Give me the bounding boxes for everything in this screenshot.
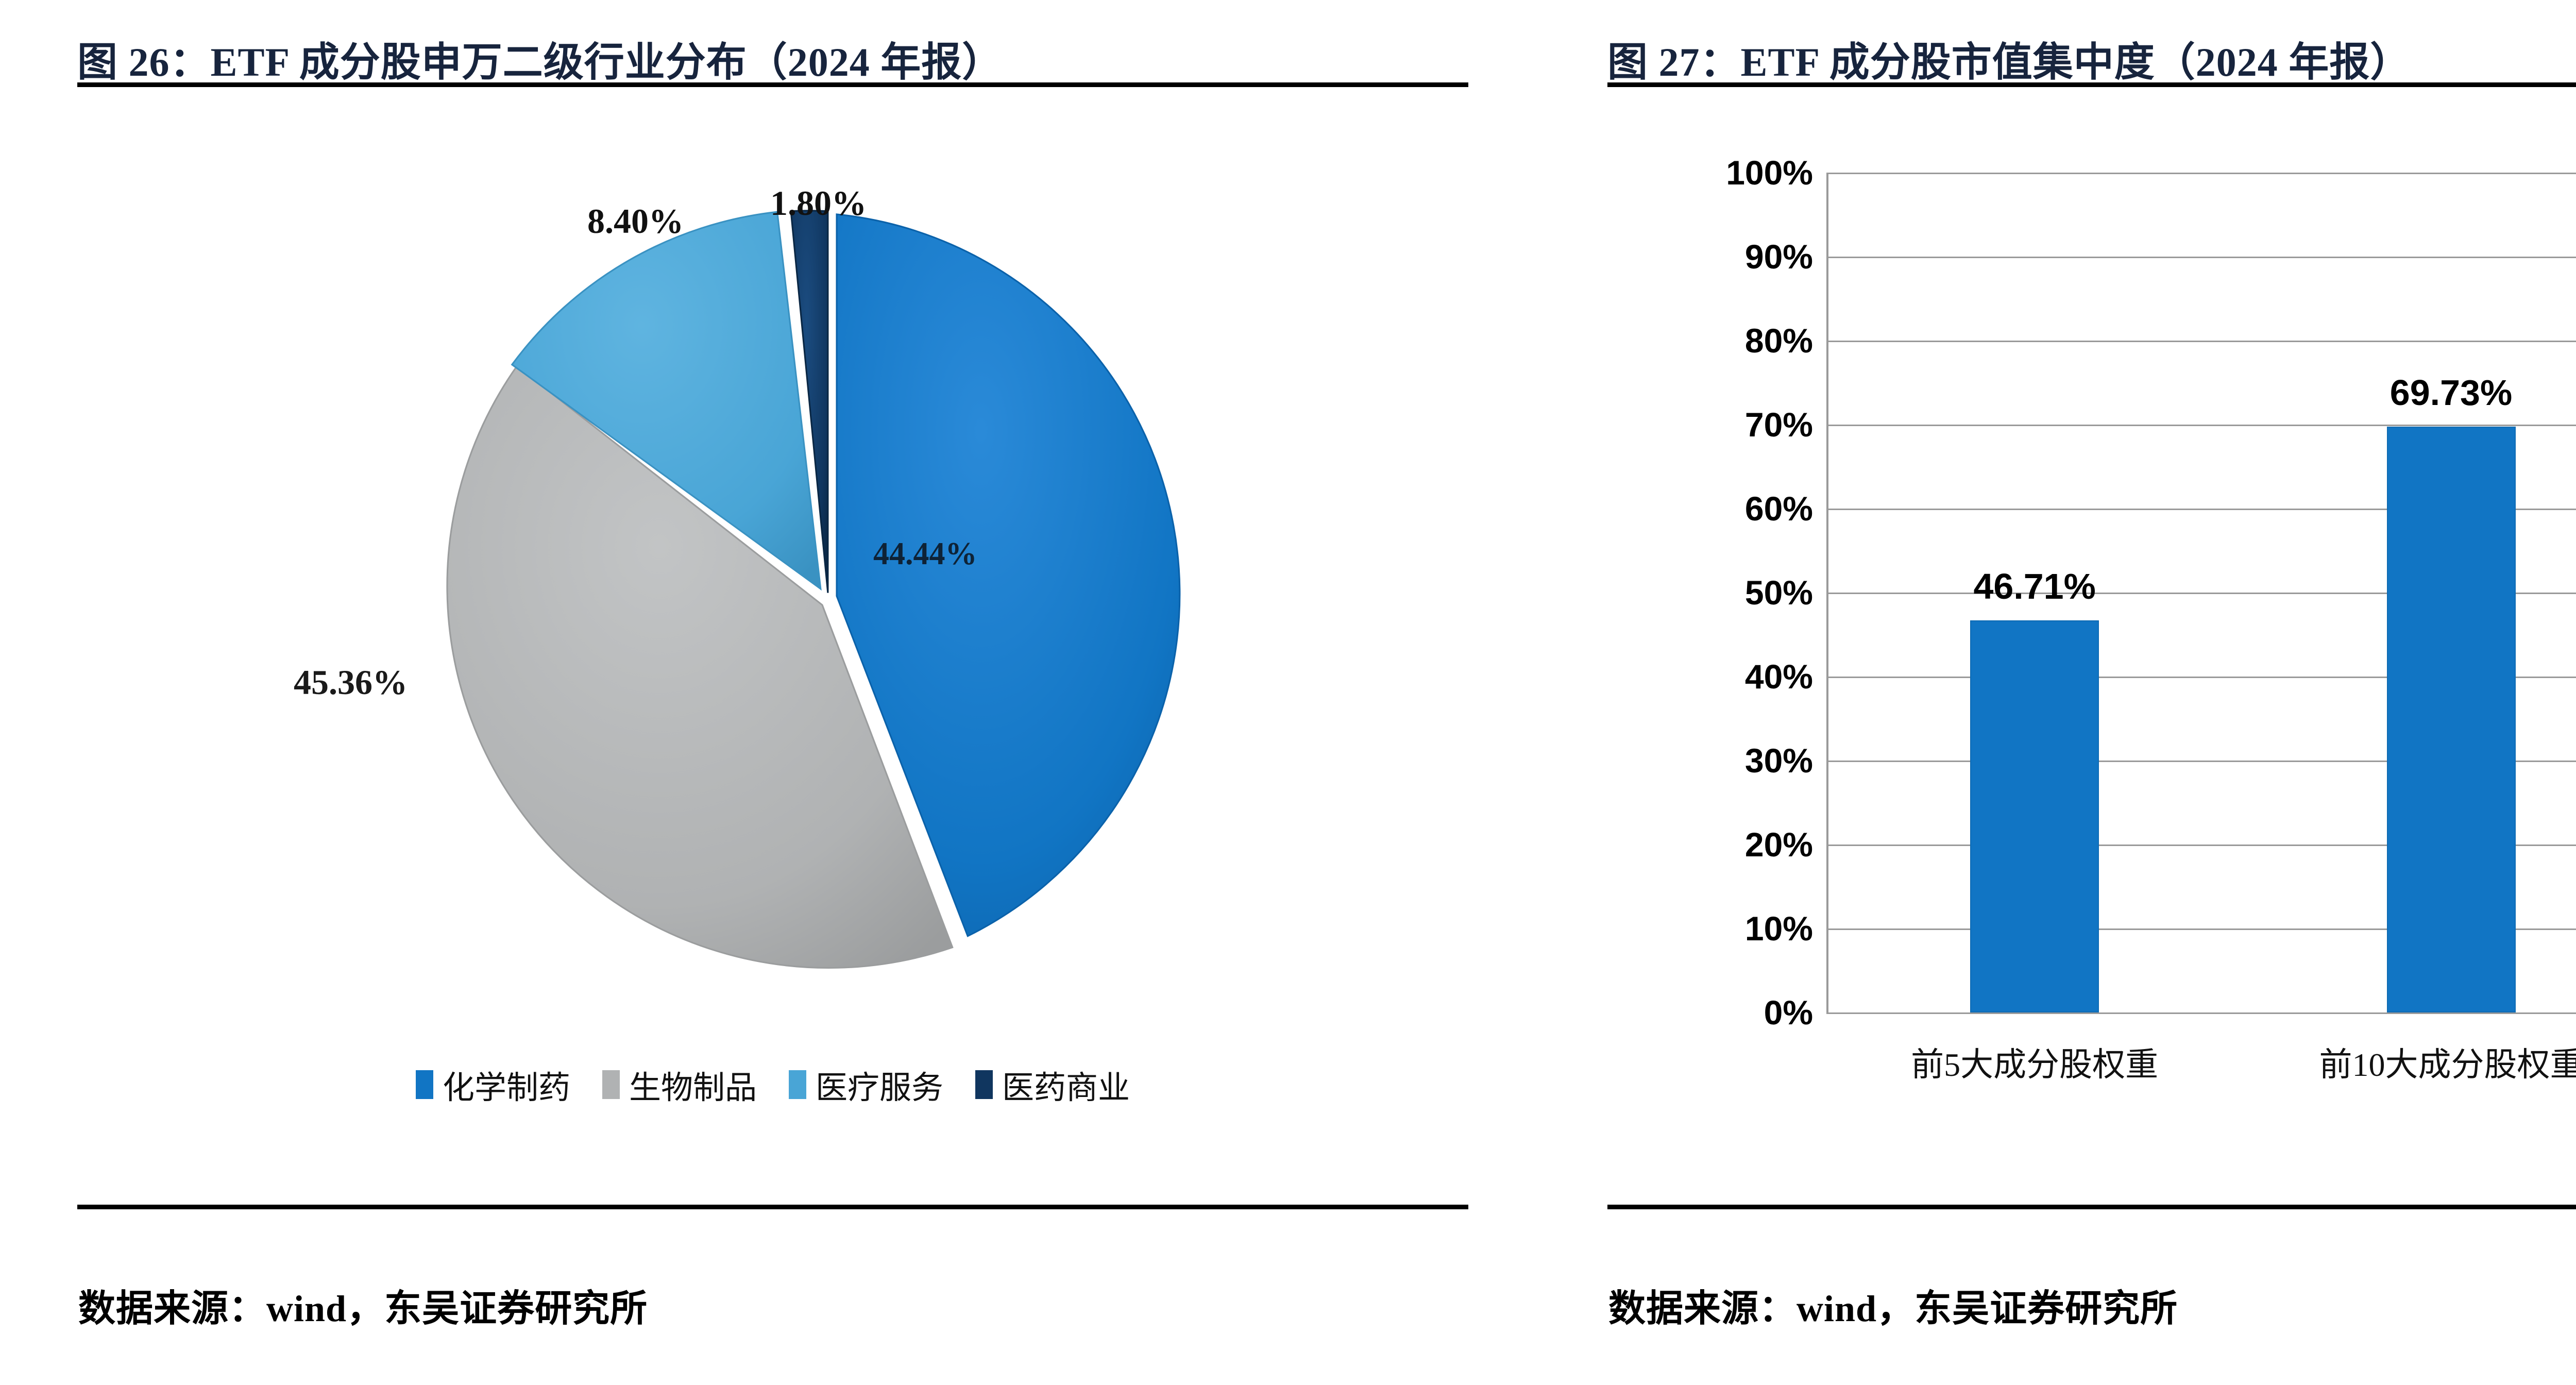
figure-26-bottom-rule [77, 1205, 1468, 1209]
y-axis-tick-label: 40% [1745, 657, 1813, 696]
figure-27-top-rule [1607, 82, 2576, 87]
pie-chart-area: 8.40% 1.80% 44.44% 45.36% 化学制药 生物制品 医疗服务 [77, 98, 1468, 1195]
gridline [1826, 341, 2576, 342]
legend-swatch-shengwu-zhipin [602, 1070, 620, 1099]
gridline [1826, 425, 2576, 426]
legend-swatch-yiyao-shangye [975, 1070, 993, 1099]
bar-1[interactable] [2387, 427, 2516, 1012]
legend-item-shengwu-zhipin[interactable]: 生物制品 [602, 1061, 757, 1108]
pie-svg [428, 196, 1231, 1000]
y-axis-tick-label: 10% [1745, 909, 1813, 948]
legend-swatch-huaxue-zhiyao [416, 1070, 433, 1099]
legend-label-yiyao-shangye: 医药商业 [1002, 1061, 1130, 1108]
y-axis-tick-label: 80% [1745, 321, 1813, 360]
legend-label-yiliao-fuwu: 医疗服务 [816, 1061, 943, 1108]
pie-label-shengwu-zhipin: 45.36% [294, 662, 408, 703]
legend-label-shengwu-zhipin: 生物制品 [629, 1061, 757, 1108]
gridline [1826, 257, 2576, 258]
bar-chart-area: 0%10%20%30%40%50%60%70%80%90%100%46.71%前… [1607, 98, 2576, 1195]
figure-26-top-rule [77, 82, 1468, 87]
x-axis-tick-label: 前10大成分股权重 [2319, 1038, 2576, 1086]
y-axis-tick-label: 20% [1745, 825, 1813, 864]
pie-chart [428, 196, 1231, 1000]
figure-27-title: 图 27：ETF 成分股市值集中度（2024 年报） [1607, 30, 2576, 88]
legend-item-yiliao-fuwu[interactable]: 医疗服务 [789, 1061, 943, 1108]
y-axis-tick-label: 50% [1745, 573, 1813, 612]
bar-0[interactable] [1970, 620, 2099, 1012]
figure-27-panel: 图 27：ETF 成分股市值集中度（2024 年报） 0%10%20%30%40… [1528, 0, 2576, 1385]
pie-label-huaxue-zhiyao: 44.44% [873, 536, 977, 572]
figure-26-source: 数据来源：wind，东吴证券研究所 [78, 1278, 648, 1332]
y-axis-tick-label: 100% [1726, 153, 1813, 192]
gridline [1826, 173, 2576, 174]
gridline [1826, 1012, 2576, 1014]
y-axis-tick-label: 70% [1745, 405, 1813, 444]
figure-26-title: 图 26：ETF 成分股申万二级行业分布（2024 年报） [77, 30, 1471, 88]
pie-label-yiyao-shangye: 1.80% [770, 183, 867, 224]
legend-swatch-yiliao-fuwu [789, 1070, 806, 1099]
figure-26-panel: 图 26：ETF 成分股申万二级行业分布（2024 年报） [0, 0, 1528, 1385]
y-axis-tick-label: 60% [1745, 489, 1813, 528]
bar-value-label: 46.71% [1973, 566, 2095, 607]
legend-item-yiyao-shangye[interactable]: 医药商业 [975, 1061, 1130, 1108]
x-axis-tick-label: 前5大成分股权重 [1911, 1038, 2158, 1086]
legend-item-huaxue-zhiyao[interactable]: 化学制药 [416, 1061, 570, 1108]
bar-plot: 0%10%20%30%40%50%60%70%80%90%100%46.71%前… [1826, 173, 2576, 1012]
figure-page: 图 26：ETF 成分股申万二级行业分布（2024 年报） [0, 0, 2576, 1385]
bar-value-label: 69.73% [2390, 372, 2512, 413]
figure-27-source: 数据来源：wind，东吴证券研究所 [1608, 1278, 2178, 1332]
figure-27-bottom-rule [1607, 1205, 2576, 1209]
y-axis-tick-label: 90% [1745, 237, 1813, 276]
y-axis-tick-label: 30% [1745, 741, 1813, 780]
legend-label-huaxue-zhiyao: 化学制药 [443, 1061, 570, 1108]
pie-legend: 化学制药 生物制品 医疗服务 医药商业 [77, 1061, 1468, 1108]
y-axis-tick-label: 0% [1764, 993, 1813, 1032]
pie-label-yiliao-fuwu: 8.40% [587, 201, 684, 242]
